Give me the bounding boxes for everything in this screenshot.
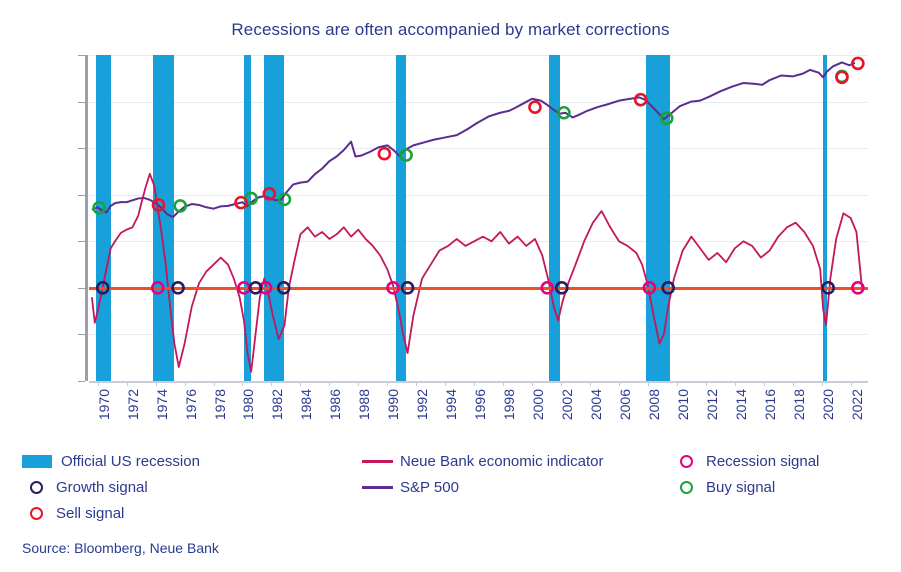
sell-signal-marker (236, 197, 247, 208)
recession-signal-marker (388, 282, 399, 293)
sell-signal-marker (635, 94, 646, 105)
x-tick-mark (271, 381, 272, 386)
x-tick-mark (445, 381, 446, 386)
x-tick-label: 1980 (240, 389, 256, 420)
legend-swatch-ring-icon (30, 507, 43, 520)
legend-swatch-ring-icon (680, 455, 693, 468)
growth-signal-marker (556, 282, 567, 293)
chart-title: Recessions are often accompanied by mark… (0, 20, 901, 40)
x-tick-label: 2000 (530, 389, 546, 420)
x-tick-label: 2020 (820, 389, 836, 420)
legend-column: Recession signalBuy signal (672, 448, 819, 500)
buy-signal-marker (401, 150, 412, 161)
x-axis-line: 1970197219741976197819801982198419861988… (89, 381, 868, 383)
legend-swatch-line (362, 486, 393, 489)
legend-column: Official US recessionGrowth signalSell s… (22, 448, 200, 526)
legend-label: Neue Bank economic indicator (400, 453, 603, 470)
legend-label: Buy signal (706, 479, 775, 496)
y-tick-mark (78, 55, 85, 56)
x-tick-mark (387, 381, 388, 386)
legend-label: Sell signal (56, 505, 124, 522)
legend-label: Official US recession (61, 453, 200, 470)
recession-signal-marker (152, 282, 163, 293)
x-tick-label: 2018 (791, 389, 807, 420)
growth-signal-marker (823, 282, 834, 293)
x-tick-label: 1990 (385, 389, 401, 420)
x-tick-mark (590, 381, 591, 386)
legend-column: Neue Bank economic indicatorS&P 500 (362, 448, 603, 500)
recession-signal-marker (644, 282, 655, 293)
x-tick-label: 1976 (183, 389, 199, 420)
x-tick-mark (735, 381, 736, 386)
legend-item[interactable]: Sell signal (22, 500, 200, 526)
x-tick-label: 1988 (356, 389, 372, 420)
y-tick-mark (78, 241, 85, 242)
x-tick-mark (185, 381, 186, 386)
signal-markers (89, 55, 868, 381)
chart-container: Recessions are often accompanied by mark… (0, 0, 901, 572)
x-tick-mark (127, 381, 128, 386)
x-tick-label: 1984 (298, 389, 314, 420)
x-tick-mark (677, 381, 678, 386)
buy-signal-marker (661, 113, 672, 124)
x-tick-mark (300, 381, 301, 386)
legend-swatch-ring-icon (680, 481, 693, 494)
x-tick-mark (764, 381, 765, 386)
x-tick-label: 1992 (414, 389, 430, 420)
y-tick-mark (78, 288, 85, 289)
x-tick-label: 2012 (704, 389, 720, 420)
y-tick-mark (78, 102, 85, 103)
x-tick-label: 1972 (125, 389, 141, 420)
x-tick-label: 1982 (269, 389, 285, 420)
y-tick-mark (78, 195, 85, 196)
x-tick-mark (503, 381, 504, 386)
x-tick-label: 2016 (762, 389, 778, 420)
y-tick-mark (78, 334, 85, 335)
source-note: Source: Bloomberg, Neue Bank (22, 540, 219, 556)
y-tick-mark (78, 148, 85, 149)
sell-signal-marker (529, 102, 540, 113)
x-tick-mark (706, 381, 707, 386)
x-tick-label: 2008 (646, 389, 662, 420)
legend-swatch-line (362, 460, 393, 463)
x-tick-label: 1978 (212, 389, 228, 420)
x-tick-mark (358, 381, 359, 386)
x-tick-mark (214, 381, 215, 386)
x-tick-mark (98, 381, 99, 386)
plot-area: 50403020100-10-20 (89, 55, 868, 381)
x-tick-mark (822, 381, 823, 386)
sell-signal-marker (852, 58, 863, 69)
x-tick-label: 1996 (472, 389, 488, 420)
sell-signal-marker (264, 188, 275, 199)
x-tick-label: 2002 (559, 389, 575, 420)
x-tick-mark (648, 381, 649, 386)
legend-label: S&P 500 (400, 479, 459, 496)
growth-signal-marker (278, 282, 289, 293)
growth-signal-marker (97, 282, 108, 293)
legend-label: Recession signal (706, 453, 819, 470)
x-tick-mark (156, 381, 157, 386)
growth-signal-marker (663, 282, 674, 293)
legend-item[interactable]: Neue Bank economic indicator (362, 448, 603, 474)
y-axis-line (85, 55, 88, 381)
buy-signal-marker (279, 194, 290, 205)
x-tick-label: 1986 (327, 389, 343, 420)
x-tick-mark (561, 381, 562, 386)
legend-label: Growth signal (56, 479, 148, 496)
x-tick-mark (532, 381, 533, 386)
sell-signal-marker (379, 148, 390, 159)
x-tick-mark (474, 381, 475, 386)
x-tick-mark (242, 381, 243, 386)
legend-item[interactable]: S&P 500 (362, 474, 603, 500)
x-tick-label: 1974 (154, 389, 170, 420)
x-tick-label: 2010 (675, 389, 691, 420)
x-tick-mark (329, 381, 330, 386)
growth-signal-marker (402, 282, 413, 293)
x-tick-mark (416, 381, 417, 386)
x-tick-label: 2014 (733, 389, 749, 420)
legend-item[interactable]: Recession signal (672, 448, 819, 474)
y-tick-mark (78, 381, 85, 382)
x-tick-label: 1970 (96, 389, 112, 420)
x-tick-label: 1994 (443, 389, 459, 420)
x-tick-mark (851, 381, 852, 386)
buy-signal-marker (94, 202, 105, 213)
legend-item[interactable]: Growth signal (22, 474, 200, 500)
recession-signal-marker (542, 282, 553, 293)
growth-signal-marker (173, 282, 184, 293)
x-tick-label: 2022 (849, 389, 865, 420)
buy-signal-marker (558, 107, 569, 118)
x-tick-label: 2006 (617, 389, 633, 420)
recession-signal-marker (852, 282, 863, 293)
x-tick-mark (793, 381, 794, 386)
legend-item[interactable]: Official US recession (22, 448, 200, 474)
legend-item[interactable]: Buy signal (672, 474, 819, 500)
x-tick-label: 1998 (501, 389, 517, 420)
chart-legend: Official US recessionGrowth signalSell s… (22, 448, 882, 526)
x-tick-mark (619, 381, 620, 386)
legend-swatch-ring-icon (30, 481, 43, 494)
buy-signal-marker (175, 200, 186, 211)
sell-signal-marker (153, 199, 164, 210)
legend-swatch-box (22, 455, 52, 468)
recession-signal-marker (238, 282, 249, 293)
x-tick-label: 2004 (588, 389, 604, 420)
